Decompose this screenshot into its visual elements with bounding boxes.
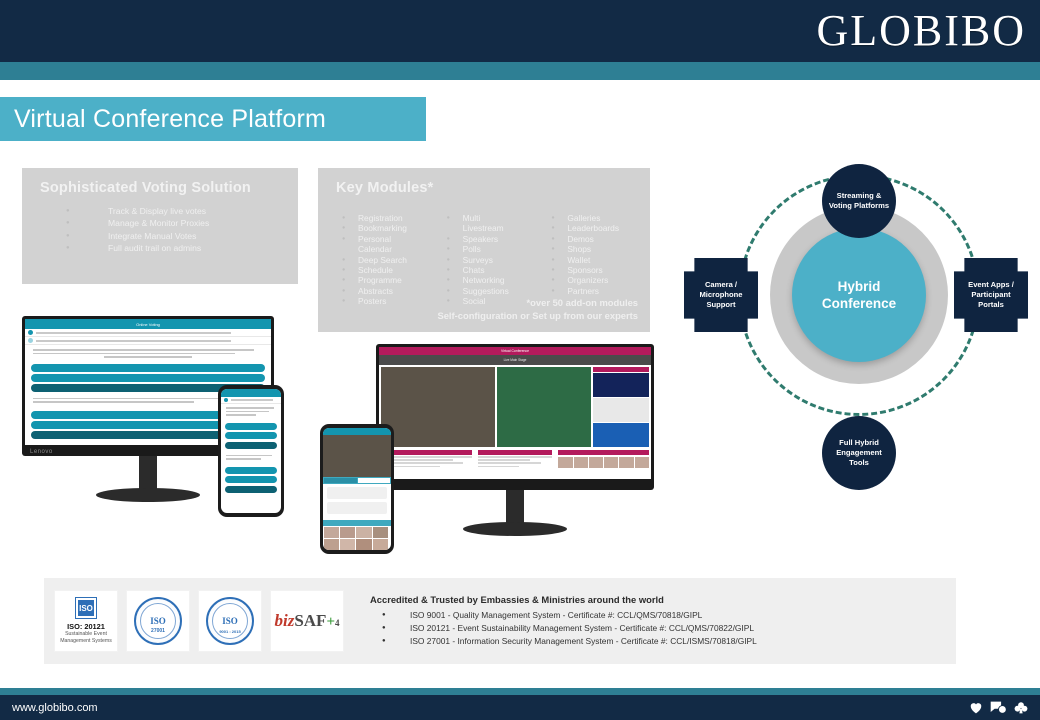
diagram-node-engagement-tools: Full Hybrid Engagement Tools	[822, 416, 896, 490]
phone-question-text	[221, 404, 281, 421]
list-item: Manage & Monitor Proxies	[66, 217, 298, 229]
tab-chat[interactable]	[324, 478, 357, 483]
virtual-event-phone-mockup	[320, 424, 394, 554]
header-bar: GLOBIBO	[0, 0, 1040, 62]
chat-message	[327, 487, 387, 499]
tab-polls[interactable]	[358, 478, 391, 483]
participant-thumb[interactable]	[589, 457, 603, 468]
sponsor-logo-tile[interactable]	[593, 423, 649, 447]
event-app-lower-panels	[379, 449, 651, 469]
participant-thumb[interactable]	[619, 457, 633, 468]
chat-message	[327, 502, 387, 514]
question-text-1	[25, 345, 271, 362]
status-icon	[28, 338, 33, 343]
monitor-stand-base	[96, 488, 200, 502]
accreditation-heading: Accredited & Trusted by Embassies & Mini…	[370, 594, 757, 605]
placeholder-line	[231, 399, 273, 401]
modules-footnote-line-1: *over 50 add-on modules	[437, 296, 638, 309]
list-item: Wallet	[545, 255, 650, 265]
modules-column-3: Galleries Leaderboards Demos Shops Walle…	[545, 213, 650, 307]
participant-thumb[interactable]	[340, 527, 355, 538]
iso-seal-icon: ISO 27001	[134, 597, 182, 645]
agenda-panel-header	[381, 450, 472, 455]
sponsor-panel	[593, 367, 649, 447]
monitor-stand-neck	[139, 456, 157, 490]
list-item: Programme	[336, 275, 441, 285]
secondary-stream-video[interactable]	[497, 367, 591, 447]
main-livestream-video[interactable]	[381, 367, 495, 447]
sponsor-panel-header	[593, 367, 649, 372]
badge-iso-27001: ISO 27001	[126, 590, 190, 652]
footer-accent-strip	[0, 688, 1040, 695]
monitor-screen: Virtual Conference Live Main Stage	[379, 347, 651, 479]
voting-panel-heading: Sophisticated Voting Solution	[22, 168, 298, 196]
list-item: Posters	[336, 296, 441, 306]
club-icon[interactable]	[1014, 701, 1028, 714]
participant-thumb[interactable]	[373, 539, 388, 550]
diagram-center-node: Hybrid Conference	[792, 228, 926, 362]
list-item: Speakers	[441, 234, 546, 244]
list-item: Shops	[545, 244, 650, 254]
list-item: ISO 9001 - Quality Management System - C…	[370, 609, 757, 622]
participant-thumb[interactable]	[340, 539, 355, 550]
header-accent-strip	[0, 62, 1040, 80]
iso-seal-icon: ISO 9001 : 2015	[206, 597, 254, 645]
accreditation-text-block: Accredited & Trusted by Embassies & Mini…	[352, 594, 757, 648]
footer-icon-group	[969, 701, 1028, 714]
page-title-bar: Virtual Conference Platform	[0, 97, 426, 141]
list-item: Bookmarking	[336, 223, 441, 233]
participant-thumb[interactable]	[356, 527, 371, 538]
participant-thumb[interactable]	[356, 539, 371, 550]
phone-question-text-2	[221, 452, 281, 465]
badge-iso-9001: ISO 9001 : 2015	[198, 590, 262, 652]
key-modules-panel: Key Modules* Registration Bookmarking Pe…	[318, 168, 650, 332]
modules-column-2: Multi Livestream Speakers Polls Surveys …	[441, 213, 546, 307]
diagram-center-line-2: Conference	[822, 296, 896, 311]
networking-panel	[556, 449, 651, 469]
badge-title: 9001 : 2015	[219, 629, 240, 634]
list-item: Integrate Manual Votes	[66, 230, 298, 242]
phone-livestream-video[interactable]	[323, 435, 391, 477]
modules-footnote-line-2: Self-configuration or Set up from our ex…	[437, 309, 638, 322]
phone-body	[320, 424, 394, 554]
submit-vote-button[interactable]	[225, 442, 277, 449]
placeholder-line	[36, 332, 231, 334]
accreditation-list: ISO 9001 - Quality Management System - C…	[370, 609, 757, 648]
monitor-bezel: Virtual Conference Live Main Stage	[376, 344, 654, 490]
diagram-center-line-1: Hybrid	[838, 279, 881, 294]
sponsor-logo-tile[interactable]	[593, 373, 649, 397]
event-app-subtitle: Live Main Stage	[504, 358, 527, 362]
vote-option-no[interactable]	[225, 432, 277, 439]
phone-screen	[323, 428, 391, 550]
voting-bullet-list: Track & Display live votes Manage & Moni…	[22, 205, 298, 255]
slide-root: GLOBIBO Virtual Conference Platform Soph…	[0, 0, 1040, 720]
modules-columns: Registration Bookmarking Personal Calend…	[318, 204, 650, 307]
chat-panel-header	[478, 450, 553, 455]
phone-tabbar[interactable]	[323, 477, 391, 484]
list-item: Networking	[441, 275, 546, 285]
list-item: Sponsors	[545, 265, 650, 275]
chat-icon[interactable]	[990, 701, 1007, 714]
voting-app-title: Online Voting	[136, 322, 160, 327]
chat-list	[476, 456, 555, 467]
footer-bar: www.globibo.com	[0, 695, 1040, 720]
list-item: Livestream	[441, 223, 546, 233]
list-item: Multi	[441, 213, 546, 223]
vote-option-yes-2[interactable]	[225, 467, 277, 474]
list-item: Full audit trail on admins	[66, 242, 298, 254]
chat-panel	[476, 449, 555, 469]
iso-mark-icon: ISO	[222, 616, 238, 626]
voting-phone-mockup	[218, 385, 284, 517]
list-item: Galleries	[545, 213, 650, 223]
event-app-titlebar: Virtual Conference	[379, 347, 651, 355]
monitor-stand-neck	[506, 490, 524, 524]
diagram-node-streaming-voting: Streaming & Voting Platforms	[822, 164, 896, 238]
list-item: Partners	[545, 286, 650, 296]
badge-title: ISO: 20121	[67, 622, 105, 631]
list-item: Schedule	[336, 265, 441, 275]
phone-app-titlebar	[221, 389, 281, 397]
modules-column-1: Registration Bookmarking Personal Calend…	[336, 213, 441, 307]
phone-event-titlebar	[323, 428, 391, 435]
list-item: Organizers	[545, 275, 650, 285]
participant-thumb[interactable]	[373, 527, 388, 538]
submit-vote-button-2[interactable]	[225, 486, 277, 493]
voting-app-row	[25, 337, 271, 345]
diagram-node-camera-mic: Camera / Microphone Support	[684, 258, 758, 332]
list-item: Deep Search	[336, 255, 441, 265]
participant-thumb[interactable]	[324, 527, 339, 538]
event-app-body	[379, 365, 651, 449]
participant-thumb[interactable]	[635, 457, 649, 468]
badge-iso-20121: ISO ISO: 20121 Sustainable Event Managem…	[54, 590, 118, 652]
vote-option-yes[interactable]	[225, 423, 277, 430]
list-item: Chats	[441, 265, 546, 275]
voting-solution-panel: Sophisticated Voting Solution Track & Di…	[22, 168, 298, 284]
phone-participant-gallery	[323, 526, 391, 550]
globibo-logo: GLOBIBO	[816, 6, 1026, 56]
bizsafe-level: 4	[335, 618, 340, 628]
list-item: Calendar	[336, 244, 441, 254]
modules-footnote: *over 50 add-on modules Self-configurati…	[437, 296, 638, 322]
badge-title: 27001	[151, 628, 165, 634]
phone-screen	[221, 389, 281, 513]
list-item: ISO 20121 - Event Sustainability Managem…	[370, 622, 757, 635]
sponsor-logo-tile[interactable]	[593, 398, 649, 422]
list-item: Suggestions	[441, 286, 546, 296]
user-avatar-icon	[224, 398, 228, 402]
list-item: Surveys	[441, 255, 546, 265]
participant-thumb[interactable]	[324, 539, 339, 550]
placeholder-line	[36, 340, 231, 342]
voting-app-row	[25, 329, 271, 337]
participant-thumb[interactable]	[604, 457, 618, 468]
vote-option-yes[interactable]	[31, 364, 265, 372]
badge-subtitle: Sustainable Event Management Systems	[55, 631, 117, 644]
list-item: Registration	[336, 213, 441, 223]
participant-thumb[interactable]	[574, 457, 588, 468]
list-item: Track & Display live votes	[66, 205, 298, 217]
modules-panel-heading: Key Modules*	[318, 168, 650, 196]
event-app-subheader: Live Main Stage	[379, 355, 651, 365]
badge-bizsafe: bizSAF+4	[270, 590, 344, 652]
monitor-stand-base	[463, 522, 567, 536]
participant-gallery	[556, 456, 651, 469]
list-item: Polls	[441, 244, 546, 254]
diagram-node-event-apps: Event Apps / Participant Portals	[954, 258, 1028, 332]
phone-body	[218, 385, 284, 517]
list-item: Personal	[336, 234, 441, 244]
hybrid-conference-diagram: Hybrid Conference Streaming & Voting Pla…	[676, 158, 1036, 502]
list-item: ISO 27001 - Information Security Managem…	[370, 635, 757, 648]
virtual-event-monitor-mockup: Virtual Conference Live Main Stage	[376, 344, 654, 490]
list-item: Abstracts	[336, 286, 441, 296]
iso-mark-icon: ISO	[150, 616, 166, 626]
accreditation-band: ISO ISO: 20121 Sustainable Event Managem…	[44, 578, 956, 664]
heart-icon[interactable]	[969, 701, 983, 714]
phone-chat-list	[323, 484, 391, 520]
voting-app-titlebar: Online Voting	[25, 319, 271, 329]
list-item: Demos	[545, 234, 650, 244]
vote-option-no[interactable]	[31, 374, 265, 382]
monitor-brand-label: Lenovo	[30, 449, 53, 455]
user-avatar-icon	[28, 330, 33, 335]
vote-option-no-2[interactable]	[225, 476, 277, 483]
footer-website-url[interactable]: www.globibo.com	[12, 702, 98, 714]
networking-panel-header	[558, 450, 649, 455]
iso-mark-icon: ISO	[76, 598, 96, 618]
event-app-title: Virtual Conference	[501, 349, 529, 353]
phone-app-row	[221, 397, 281, 404]
page-title: Virtual Conference Platform	[0, 105, 326, 134]
list-item: Leaderboards	[545, 223, 650, 233]
participant-thumb[interactable]	[558, 457, 572, 468]
bizsafe-logo-icon: bizSAF+4	[274, 611, 339, 631]
